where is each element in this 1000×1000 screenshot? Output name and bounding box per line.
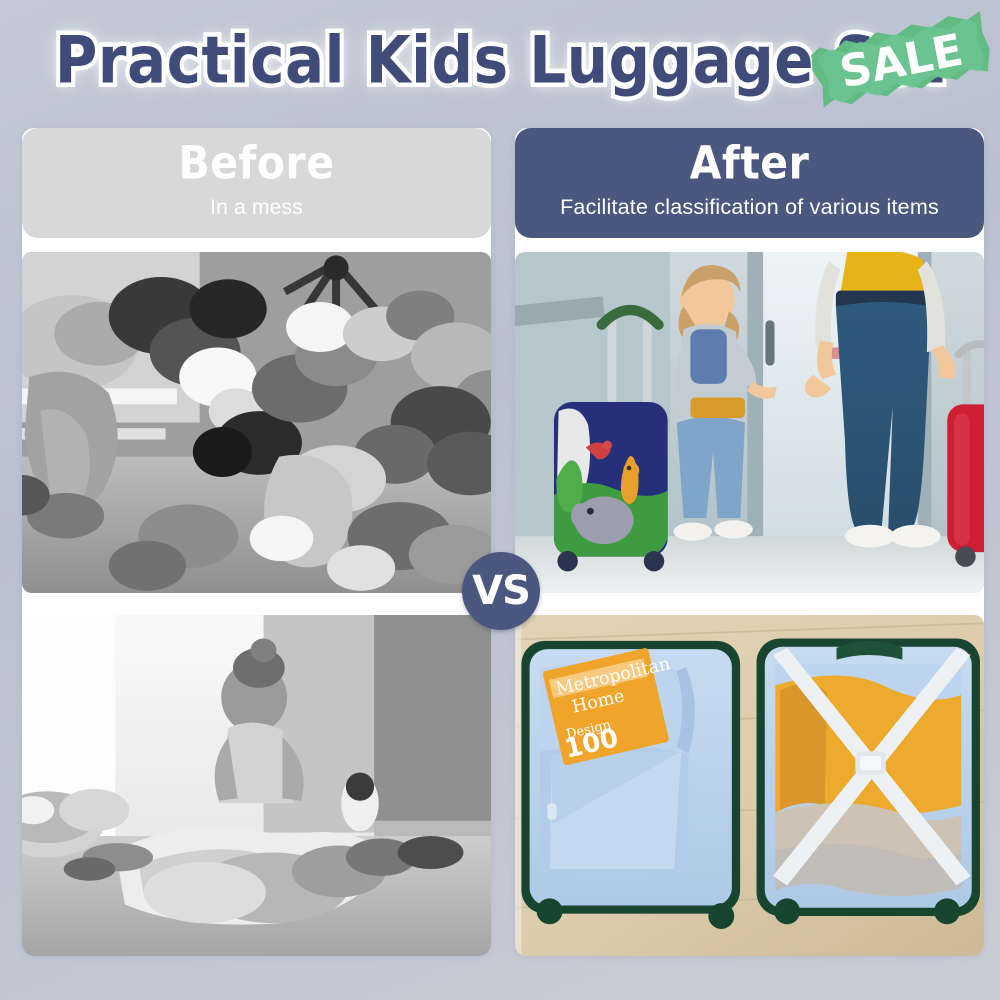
sale-badge: SALE <box>810 8 992 112</box>
sale-badge-label: SALE <box>836 25 967 99</box>
panel-before-header: Before In a mess <box>22 128 491 238</box>
panel-after-card: After Facilitate classification of vario… <box>515 128 984 956</box>
panel-before-title: Before <box>36 140 477 187</box>
messy-clothes-pile-photo <box>22 252 491 593</box>
panel-before-subtitle: In a mess <box>36 195 477 220</box>
vs-badge: VS <box>462 552 540 630</box>
sale-ribbon-icon: SALE <box>810 8 992 112</box>
panel-before: Before In a mess <box>22 128 491 960</box>
child-with-scattered-clothes-photo <box>22 615 491 956</box>
panel-after-photos: Metropolitan Home Design 100 <box>515 238 984 956</box>
panel-before-card: Before In a mess <box>22 128 491 956</box>
panel-after-header: After Facilitate classification of vario… <box>515 128 984 238</box>
panel-after-title: After <box>529 139 970 186</box>
panel-before-photos <box>22 238 491 956</box>
child-with-kids-suitcase-airport-photo <box>515 252 984 593</box>
open-organized-suitcase-photo: Metropolitan Home Design 100 <box>515 615 984 956</box>
panel-after-subtitle: Facilitate classification of various ite… <box>529 195 970 221</box>
page-header: Practical Kids Luggage Set SALE <box>0 0 1000 128</box>
panel-after: After Facilitate classification of vario… <box>515 128 984 960</box>
